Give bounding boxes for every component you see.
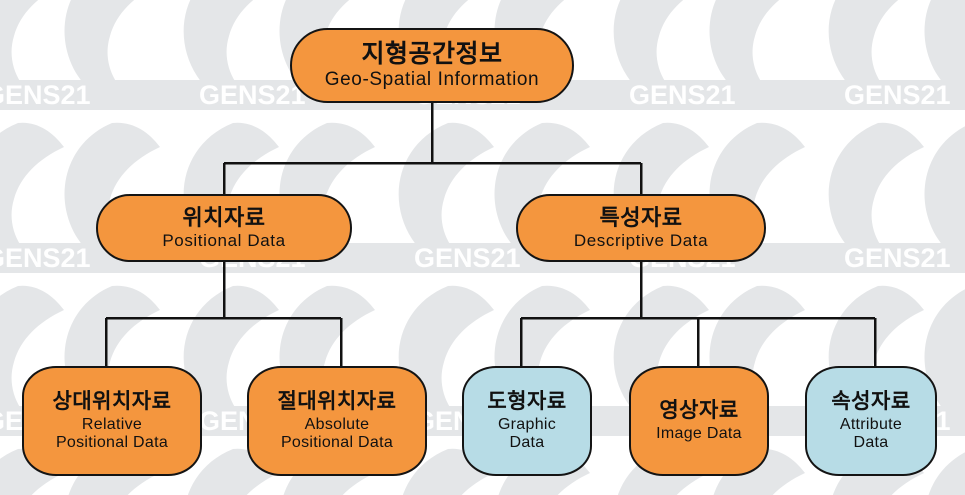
node-relative-positional-data[interactable]: 상대위치자료 Relative Positional Data — [22, 366, 202, 476]
node-label-english: Positional Data — [162, 231, 285, 250]
node-label-english-line2: Positional Data — [281, 434, 393, 452]
node-label-english: Relative — [82, 416, 142, 434]
node-label-english-line2: Positional Data — [56, 434, 168, 452]
node-label-korean: 상대위치자료 — [53, 390, 172, 414]
node-label-korean: 특성자료 — [600, 206, 683, 231]
node-label-korean: 지형공간정보 — [361, 40, 502, 68]
node-positional-data[interactable]: 위치자료 Positional Data — [96, 194, 352, 262]
node-label-korean: 속성자료 — [831, 390, 910, 414]
node-label-korean: 영상자료 — [659, 399, 738, 423]
node-geo-spatial-information[interactable]: 지형공간정보 Geo-Spatial Information — [290, 28, 574, 103]
node-label-english: Geo-Spatial Information — [325, 69, 539, 90]
node-label-english-line2: Data — [854, 434, 889, 452]
node-descriptive-data[interactable]: 특성자료 Descriptive Data — [516, 194, 766, 262]
node-label-english: Absolute — [305, 416, 370, 434]
node-layer: 지형공간정보 Geo-Spatial Information 위치자료 Posi… — [0, 0, 965, 495]
node-label-english-line2: Data — [510, 434, 545, 452]
node-label-english: Attribute — [840, 416, 902, 434]
node-absolute-positional-data[interactable]: 절대위치자료 Absolute Positional Data — [247, 366, 427, 476]
node-graphic-data[interactable]: 도형자료 Graphic Data — [462, 366, 592, 476]
node-attribute-data[interactable]: 속성자료 Attribute Data — [805, 366, 937, 476]
node-label-english: Descriptive Data — [574, 231, 708, 250]
node-label-english: Graphic — [498, 416, 556, 434]
diagram-canvas: GENS21 — [0, 0, 965, 495]
node-image-data[interactable]: 영상자료 Image Data — [629, 366, 769, 476]
node-label-korean: 위치자료 — [183, 206, 266, 231]
node-label-korean: 절대위치자료 — [278, 390, 397, 414]
node-label-korean: 도형자료 — [487, 390, 566, 414]
node-label-english: Image Data — [656, 425, 742, 443]
